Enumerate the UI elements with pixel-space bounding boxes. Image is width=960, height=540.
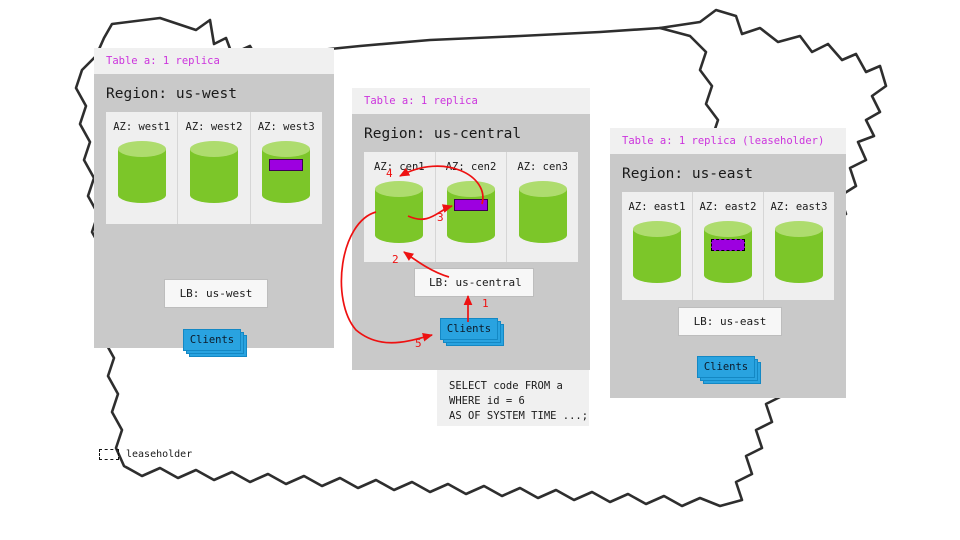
region-panel-us-central: Table a: 1 replica Region: us-central AZ… (352, 88, 590, 370)
az-cell-cen1[interactable]: AZ: cen1 (364, 152, 436, 262)
az-label: AZ: cen1 (374, 161, 425, 173)
cylinder-top (375, 181, 423, 197)
clients-card-front[interactable]: Clients (440, 318, 498, 340)
az-label: AZ: east2 (700, 201, 757, 213)
legend-label: leaseholder (126, 449, 192, 460)
region-replica-header: Table a: 1 replica (352, 88, 590, 114)
clients-card-front[interactable]: Clients (697, 356, 755, 378)
flow-step-number-3: 3 (437, 211, 444, 224)
load-balancer-us-west[interactable]: LB: us-west (164, 279, 268, 308)
db-node-cylinder[interactable] (190, 141, 238, 203)
cylinder-top (262, 141, 310, 157)
db-node-cylinder[interactable] (704, 221, 752, 283)
az-cell-west1[interactable]: AZ: west1 (106, 112, 178, 224)
az-cell-cen2[interactable]: AZ: cen2 (436, 152, 508, 262)
az-label: AZ: east3 (771, 201, 828, 213)
replica-range-marker-leaseholder[interactable] (711, 239, 745, 251)
db-node-cylinder[interactable] (375, 181, 423, 243)
az-cell-east1[interactable]: AZ: east1 (622, 192, 693, 300)
load-balancer-us-central[interactable]: LB: us-central (414, 268, 534, 297)
cylinder-top (633, 221, 681, 237)
cylinder-top (447, 181, 495, 197)
clients-us-west[interactable]: Clients (183, 329, 245, 353)
db-node-cylinder[interactable] (633, 221, 681, 283)
db-node-cylinder[interactable] (775, 221, 823, 283)
clients-card-front[interactable]: Clients (183, 329, 241, 351)
az-label: AZ: cen2 (446, 161, 497, 173)
az-cell-west2[interactable]: AZ: west2 (178, 112, 250, 224)
load-balancer-us-east[interactable]: LB: us-east (678, 307, 782, 336)
replica-range-marker[interactable] (269, 159, 303, 171)
az-label: AZ: west2 (186, 121, 243, 133)
clients-us-central[interactable]: Clients (440, 318, 502, 342)
cylinder-top (704, 221, 752, 237)
replica-range-marker[interactable] (454, 199, 488, 211)
az-strip: AZ: east1 AZ: east2 AZ: east3 (622, 192, 834, 300)
sql-query-callout: SELECT code FROM a WHERE id = 6 AS OF SY… (437, 370, 589, 426)
flow-step-number-2: 2 (392, 253, 399, 266)
db-node-cylinder[interactable] (519, 181, 567, 243)
az-label: AZ: east1 (629, 201, 686, 213)
cylinder-top (190, 141, 238, 157)
flow-step-number-5: 5 (415, 337, 422, 350)
db-node-cylinder[interactable] (262, 141, 310, 203)
flow-step-number-4: 4 (386, 167, 393, 180)
region-panel-us-east: Table a: 1 replica (leaseholder) Region:… (610, 128, 846, 398)
region-title: Region: us-east (610, 154, 846, 192)
db-node-cylinder[interactable] (447, 181, 495, 243)
region-title: Region: us-west (94, 74, 334, 112)
cylinder-top (519, 181, 567, 197)
clients-us-east[interactable]: Clients (697, 356, 759, 380)
az-cell-east2[interactable]: AZ: east2 (693, 192, 764, 300)
cylinder-top (118, 141, 166, 157)
region-replica-header: Table a: 1 replica (94, 48, 334, 74)
az-strip: AZ: west1 AZ: west2 AZ: west3 (106, 112, 322, 224)
legend: leaseholder (99, 449, 192, 460)
diagram-canvas: Table a: 1 replica Region: us-west AZ: w… (0, 0, 960, 540)
az-cell-cen3[interactable]: AZ: cen3 (507, 152, 578, 262)
az-strip: AZ: cen1 AZ: cen2 AZ: cen3 (364, 152, 578, 262)
az-cell-east3[interactable]: AZ: east3 (764, 192, 834, 300)
region-panel-us-west: Table a: 1 replica Region: us-west AZ: w… (94, 48, 334, 348)
region-title: Region: us-central (352, 114, 590, 152)
az-label: AZ: west1 (113, 121, 170, 133)
cylinder-top (775, 221, 823, 237)
leaseholder-swatch-icon (99, 449, 119, 460)
az-cell-west3[interactable]: AZ: west3 (251, 112, 322, 224)
az-label: AZ: west3 (258, 121, 315, 133)
flow-step-number-1: 1 (482, 297, 489, 310)
az-label: AZ: cen3 (517, 161, 568, 173)
db-node-cylinder[interactable] (118, 141, 166, 203)
region-replica-header: Table a: 1 replica (leaseholder) (610, 128, 846, 154)
